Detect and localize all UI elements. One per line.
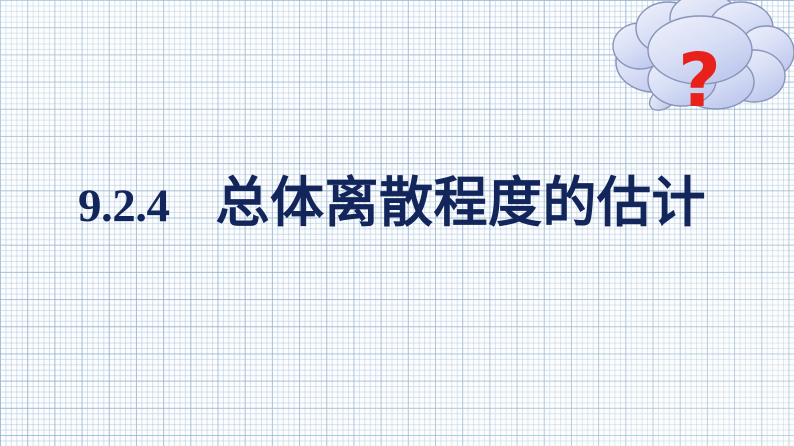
- question-mark-glyph: ?: [678, 38, 721, 124]
- title-section-number: 9.2.4: [78, 183, 170, 230]
- thought-cloud-icon: ?: [596, 0, 794, 134]
- presentation-slide: ? 9.2.4 总体离散程度的估计: [0, 0, 794, 446]
- page-title: 9.2.4 总体离散程度的估计: [78, 176, 706, 230]
- question-mark-icon: ?: [678, 38, 721, 124]
- title-heading-text: 总体离散程度的估计: [216, 176, 707, 230]
